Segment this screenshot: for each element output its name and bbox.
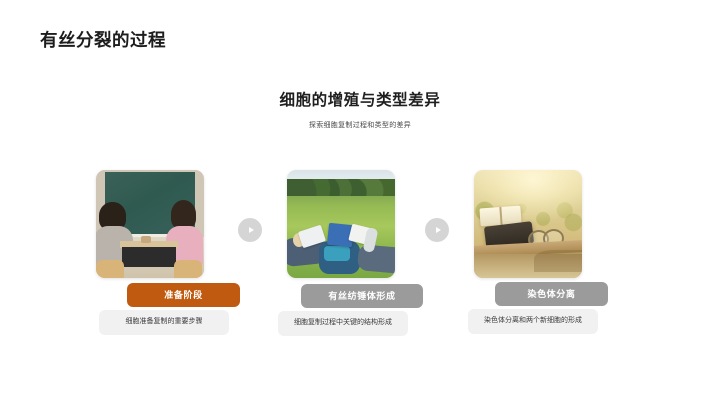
classroom-desk-front (122, 247, 176, 268)
table-shadow (534, 250, 582, 272)
step-2-description: 细胞复制过程中关键的结构形成 (278, 311, 408, 336)
step-1-thumbnail (96, 170, 204, 278)
student-right-head (171, 200, 197, 229)
desk-books-image (474, 170, 582, 278)
chair-right (174, 260, 202, 278)
step-3-thumbnail (474, 170, 582, 278)
step-3-badge[interactable]: 染色体分离 (495, 282, 608, 306)
play-arrow-icon (436, 227, 441, 233)
process-step-3[interactable]: 染色体分离 染色体分离和两个新细胞的形成 (465, 170, 617, 278)
step-3-description: 染色体分离和两个新细胞的形成 (468, 309, 598, 334)
treeline (287, 179, 395, 196)
process-steps-row: 准备阶段 细胞准备复制的重要步骤 有丝纺锤体形成 细胞复制过程中关键的结构形成 (90, 170, 630, 360)
chair-left (96, 260, 124, 278)
classroom-image (96, 170, 204, 278)
page-title: 有丝分裂的过程 (40, 27, 166, 52)
connector-arrow-1 (238, 218, 262, 242)
child-center-shirt (324, 246, 350, 261)
play-arrow-icon (249, 227, 254, 233)
main-headline: 细胞的增殖与类型差异 (0, 92, 720, 111)
connector-arrow-2 (425, 218, 449, 242)
process-step-1[interactable]: 准备阶段 细胞准备复制的重要步骤 (90, 170, 242, 278)
field-reading-image (287, 170, 395, 278)
process-step-2[interactable]: 有丝纺锤体形成 细胞复制过程中关键的结构形成 (278, 170, 430, 278)
desk-cup-icon (141, 236, 151, 244)
step-1-description: 细胞准备复制的重要步骤 (99, 310, 229, 335)
sub-headline: 探索细胞复制过程和类型的差异 (0, 122, 720, 130)
step-2-thumbnail (287, 170, 395, 278)
headline-block: 细胞的增殖与类型差异 探索细胞复制过程和类型的差异 (0, 92, 720, 130)
step-2-badge[interactable]: 有丝纺锤体形成 (301, 284, 423, 308)
step-1-badge[interactable]: 准备阶段 (127, 283, 240, 307)
